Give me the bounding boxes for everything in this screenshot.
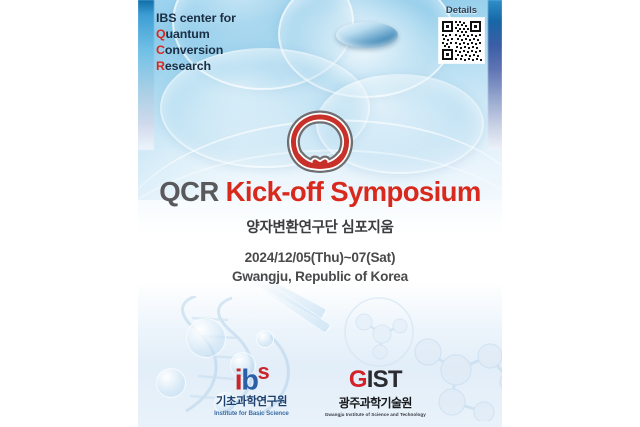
gist-letter-g: G (349, 366, 367, 393)
ibs-letter-b: b (241, 364, 257, 396)
page-title: QCR Kick-off Symposium (138, 178, 502, 207)
conversion-rest: onversion (165, 43, 223, 57)
gist-wordmark: GIST (325, 368, 426, 392)
center-name-line-1: IBS center for (156, 10, 236, 26)
gist-logo[interactable]: GIST 광주과학기술원 Gwangju Institute of Scienc… (325, 368, 426, 417)
left-white-margin (0, 0, 138, 427)
bubble-shape (186, 318, 226, 358)
ibs-korean-name: 기초과학연구원 (214, 393, 289, 409)
details-qr-block[interactable]: Details (439, 5, 484, 63)
title-main-text: Kick-off Symposium (226, 176, 481, 207)
ibs-english-name: Institute for Basic Science (214, 410, 289, 417)
center-name-line-3: Conversion (156, 42, 236, 58)
event-details-block: 2024/12/05(Thu)~07(Sat) Gwangju, Republi… (138, 249, 502, 287)
symposium-poster: IBS center for Quantum Conversion Resear… (138, 0, 502, 427)
ibs-logo[interactable]: ibs 기초과학연구원 Institute for Basic Science (214, 362, 289, 417)
water-droplet-shape (336, 22, 398, 48)
qcr-knot-logo-icon (281, 104, 359, 178)
event-date: 2024/12/05(Thu)~07(Sat) (138, 249, 502, 268)
gist-korean-name: 광주과학기술원 (325, 394, 426, 411)
poster-title-block: QCR Kick-off Symposium 양자변환연구단 심포지움 (138, 178, 502, 237)
gist-english-name: Gwangju Institute of Science and Technol… (325, 412, 426, 417)
title-acronym: QCR (159, 176, 218, 207)
event-location: Gwangju, Republic of Korea (138, 268, 502, 287)
screenshot-canvas: IBS center for Quantum Conversion Resear… (0, 0, 640, 427)
title-korean: 양자변환연구단 심포지움 (138, 216, 502, 237)
ibs-wordmark: ibs (214, 362, 289, 394)
center-name-line-2: Quantum (156, 26, 236, 42)
research-initial: R (156, 59, 165, 73)
sponsor-logos: ibs 기초과학연구원 Institute for Basic Science … (138, 362, 502, 417)
qr-label: Details (439, 5, 484, 16)
center-name-block: IBS center for Quantum Conversion Resear… (156, 10, 236, 75)
research-rest: esearch (165, 59, 211, 73)
qr-code-icon[interactable] (439, 18, 484, 63)
right-blue-edge-band (488, 0, 502, 150)
gist-letters-ist: IST (367, 366, 402, 393)
bubble-shape (256, 330, 274, 348)
left-blue-edge-band (138, 0, 154, 150)
center-name-line-4: Research (156, 58, 236, 74)
quantum-rest: uantum (166, 27, 210, 41)
conversion-initial: C (156, 43, 165, 57)
quantum-initial: Q (156, 27, 166, 41)
ibs-letter-s: s (257, 359, 268, 384)
right-white-margin (502, 0, 640, 427)
